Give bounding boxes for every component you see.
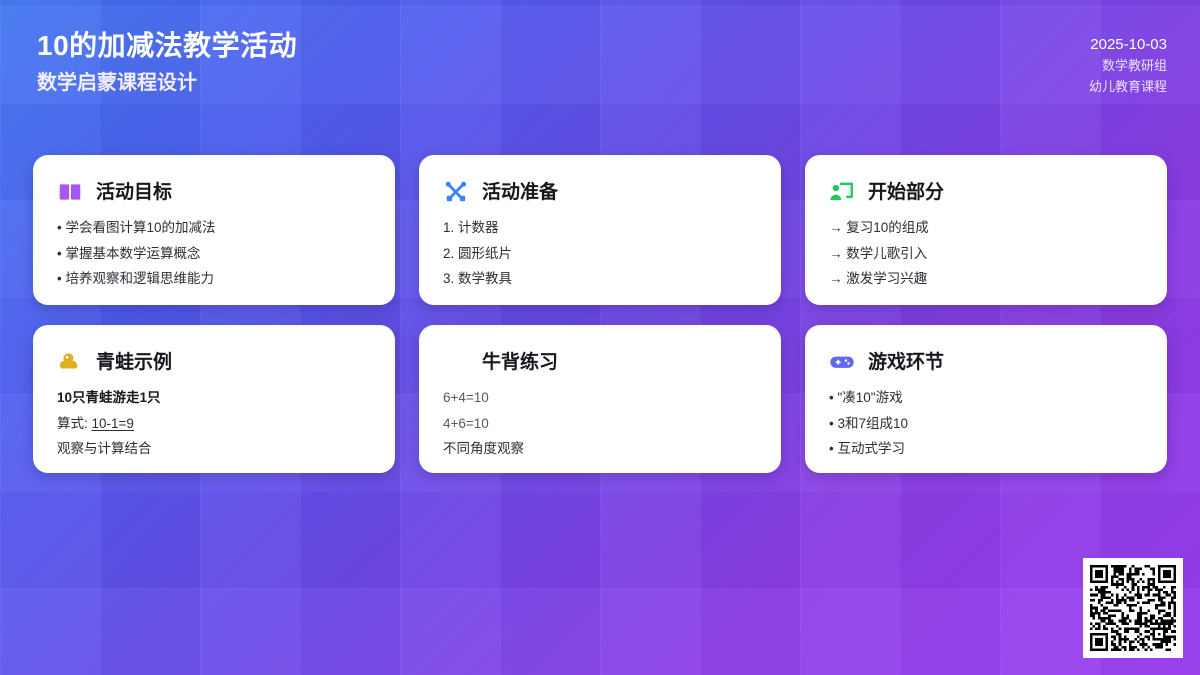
card-body: 复习10的组成 数学儿歌引入 激发学习兴趣: [805, 207, 1167, 286]
card-title: 活动目标: [96, 183, 172, 202]
list-item: 数学儿歌引入: [829, 247, 1143, 261]
card-opening-section[interactable]: 开始部分 复习10的组成 数学儿歌引入 激发学习兴趣: [805, 155, 1167, 305]
card-header: 活动准备: [419, 155, 781, 207]
slide-root: 10的加减法教学活动 数学启蒙课程设计 2025-10-03 数学教研组 幼儿教…: [0, 0, 1200, 675]
hammer-and-wrench-icon: [443, 179, 469, 205]
frog-icon: [57, 349, 83, 375]
list-item: 掌握基本数学运算概念: [57, 247, 371, 261]
card-title: 活动准备: [482, 183, 558, 202]
list-item: 2. 圆形纸片: [443, 247, 757, 261]
page-subtitle: 数学启蒙课程设计: [37, 71, 297, 95]
list-item: 1. 计数器: [443, 221, 757, 235]
card-frog-example[interactable]: 青蛙示例 10只青蛙游走1只 算式: 10-1=9 观察与计算结合: [33, 325, 395, 473]
header-date: 2025-10-03: [1089, 33, 1167, 56]
card-title: 游戏环节: [868, 353, 944, 372]
card-activity-preparation[interactable]: 活动准备 1. 计数器 2. 圆形纸片 3. 数学教具: [419, 155, 781, 305]
list-item: 学会看图计算10的加减法: [57, 221, 371, 235]
card-header: 牛背练习: [419, 325, 781, 377]
qr-code[interactable]: [1083, 558, 1183, 658]
game-controller-icon: [829, 349, 855, 375]
formula-value: 10-1=9: [92, 416, 134, 431]
card-game-section[interactable]: 游戏环节 "凑10"游戏 3和7组成10 互动式学习: [805, 325, 1167, 473]
open-book-icon: [57, 179, 83, 205]
list-item: 10只青蛙游走1只: [57, 391, 371, 405]
card-body: "凑10"游戏 3和7组成10 互动式学习: [805, 377, 1167, 456]
qr-code-canvas: [1090, 565, 1176, 651]
header-left-block: 10的加减法教学活动 数学启蒙课程设计: [37, 28, 297, 95]
list-item: 复习10的组成: [829, 221, 1143, 235]
slide-header: 10的加减法教学活动 数学启蒙课程设计 2025-10-03 数学教研组 幼儿教…: [0, 0, 1200, 128]
teacher-icon: [829, 179, 855, 205]
list-item: 3. 数学教具: [443, 272, 757, 286]
list-item: 互动式学习: [829, 442, 1143, 456]
list-item: 观察与计算结合: [57, 442, 371, 456]
card-body: 1. 计数器 2. 圆形纸片 3. 数学教具: [419, 207, 781, 286]
list-item: 3和7组成10: [829, 417, 1143, 431]
card-title: 青蛙示例: [96, 353, 172, 372]
header-org: 数学教研组: [1089, 56, 1167, 77]
header-course: 幼儿教育课程: [1089, 77, 1167, 98]
card-header: 活动目标: [33, 155, 395, 207]
list-item: 不同角度观察: [443, 442, 757, 456]
header-meta-block: 2025-10-03 数学教研组 幼儿教育课程: [1089, 33, 1167, 98]
card-body: 6+4=10 4+6=10 不同角度观察: [419, 377, 781, 456]
list-item: 4+6=10: [443, 417, 757, 431]
list-item: "凑10"游戏: [829, 391, 1143, 405]
list-item: 6+4=10: [443, 391, 757, 405]
card-cow-back-practice[interactable]: 牛背练习 6+4=10 4+6=10 不同角度观察: [419, 325, 781, 473]
card-header: 开始部分: [805, 155, 1167, 207]
list-item-formula: 算式: 10-1=9: [57, 417, 371, 431]
card-header: 游戏环节: [805, 325, 1167, 377]
formula-label: 算式:: [57, 416, 92, 431]
card-title: 开始部分: [868, 183, 944, 202]
list-item: 激发学习兴趣: [829, 272, 1143, 286]
card-body: 学会看图计算10的加减法 掌握基本数学运算概念 培养观察和逻辑思维能力: [33, 207, 395, 286]
card-body: 10只青蛙游走1只 算式: 10-1=9 观察与计算结合: [33, 377, 395, 456]
card-title: 牛背练习: [482, 353, 558, 372]
card-activity-goals[interactable]: 活动目标 学会看图计算10的加减法 掌握基本数学运算概念 培养观察和逻辑思维能力: [33, 155, 395, 305]
page-title: 10的加减法教学活动: [37, 28, 297, 63]
card-header: 青蛙示例: [33, 325, 395, 377]
list-item: 培养观察和逻辑思维能力: [57, 272, 371, 286]
